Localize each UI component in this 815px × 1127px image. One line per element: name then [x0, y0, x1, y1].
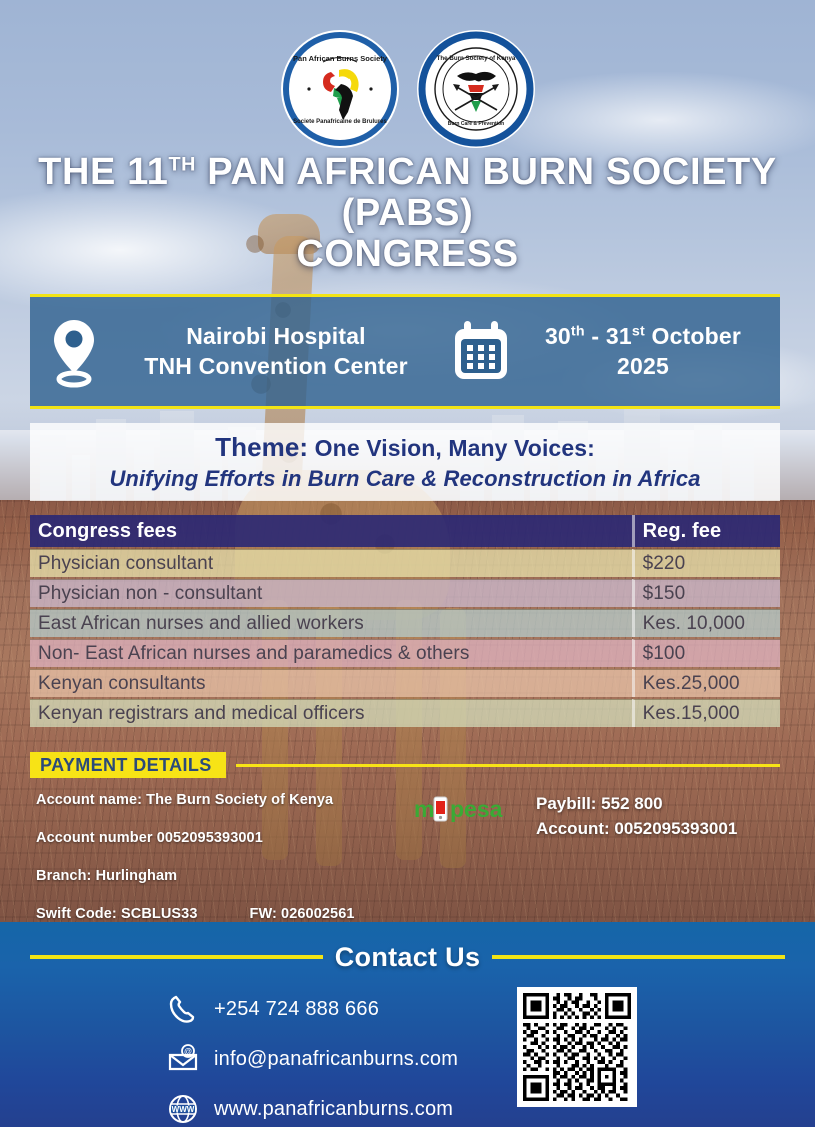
table-row: Kenyan registrars and medical officers K…	[30, 699, 780, 727]
theme-subline: Unifying Efforts in Burn Care & Reconstr…	[109, 466, 700, 492]
theme-keyword: Theme:	[215, 432, 308, 462]
venue-line-1: Nairobi Hospital	[102, 322, 450, 351]
title-line-1-pre: THE 11	[38, 151, 168, 193]
payment-divider	[236, 764, 780, 767]
payment-details-title: PAYMENT DETAILS	[30, 752, 226, 778]
date-separator: -	[585, 323, 606, 349]
page-title: THE 11TH PAN AFRICAN BURN SOCIETY (PABS)…	[0, 152, 815, 275]
svg-text:m: m	[414, 796, 434, 822]
fee-amount: Kes.25,000	[632, 669, 780, 697]
fee-amount: Kes. 10,000	[632, 609, 780, 637]
table-row: Non- East African nurses and paramedics …	[30, 639, 780, 667]
contact-list: +254 724 888 666 @ info@panafricanburns.…	[168, 984, 528, 1127]
title-line-1-post: PAN AFRICAN BURN SOCIETY	[196, 151, 777, 193]
map-pin-icon	[46, 316, 102, 388]
contact-footer: Contact Us +254 724 888 666 @	[0, 922, 815, 1127]
date-group: 30th - 31st October 2025	[450, 319, 780, 385]
payment-account-number: Account number 0052095393001	[36, 830, 416, 846]
payment-swift-code: Swift Code: SCBLUS33	[36, 906, 198, 922]
phone-icon	[168, 994, 198, 1024]
svg-text:Burn Care & Prevention: Burn Care & Prevention	[447, 121, 503, 127]
qr-code[interactable]	[517, 987, 637, 1107]
venue-date-band: Nairobi Hospital TNH Convention Center	[30, 294, 780, 409]
theme-box: Theme: One Vision, Many Voices: Unifying…	[30, 423, 780, 501]
table-row: Physician non - consultant $150	[30, 579, 780, 607]
logo-row: Pan African Burns Society Societe Panafr…	[0, 28, 815, 150]
payment-paybill-account: Account: 0052095393001	[536, 817, 786, 842]
fee-amount: Kes.15,000	[632, 699, 780, 727]
date-day-end: 31	[606, 323, 632, 349]
date-day-start: 30	[545, 323, 571, 349]
pan-african-burns-society-logo: Pan African Burns Society Societe Panafr…	[279, 28, 401, 150]
contact-item-phone[interactable]: +254 724 888 666	[168, 984, 528, 1034]
svg-text:Pan African Burns Society: Pan African Burns Society	[293, 54, 388, 63]
contact-phone-text: +254 724 888 666	[214, 998, 379, 1021]
congress-fees-table: Congress fees Reg. fee Physician consult…	[30, 513, 780, 729]
payment-swift-row: Swift Code: SCBLUS33 FW: 026002561	[36, 906, 416, 922]
payment-paybill: Paybill: 552 800	[536, 792, 786, 817]
date-year: 2025	[512, 352, 774, 382]
fee-label: East African nurses and allied workers	[30, 609, 632, 637]
contact-rule-right	[492, 955, 785, 959]
table-header-row: Congress fees Reg. fee	[30, 515, 780, 547]
svg-text:WWW: WWW	[172, 1105, 195, 1114]
column-header-reg-fee: Reg. fee	[632, 515, 780, 547]
venue-group: Nairobi Hospital TNH Convention Center	[30, 316, 450, 388]
svg-text:pesa: pesa	[450, 796, 503, 822]
contact-heading-row: Contact Us	[30, 940, 785, 974]
payment-account-name: Account name: The Burn Society of Kenya	[36, 792, 416, 808]
fee-amount: $220	[632, 549, 780, 577]
title-ordinal-suffix: TH	[169, 153, 197, 175]
calendar-icon	[450, 319, 512, 385]
fee-amount: $100	[632, 639, 780, 667]
contact-website-text: www.panafricanburns.com	[214, 1098, 453, 1121]
payment-mpesa-details: Paybill: 552 800 Account: 0052095393001	[536, 792, 786, 841]
payment-details-header: PAYMENT DETAILS	[30, 752, 780, 778]
theme-headline: Theme: One Vision, Many Voices:	[215, 432, 595, 463]
date-suffix-start: th	[571, 323, 585, 339]
date-text: 30th - 31st October 2025	[512, 322, 780, 382]
m-pesa-logo: m pesa	[414, 794, 524, 824]
table-row: Physician consultant $220	[30, 549, 780, 577]
table-row: East African nurses and allied workers K…	[30, 609, 780, 637]
fee-amount: $150	[632, 579, 780, 607]
poster-canvas: Pan African Burns Society Societe Panafr…	[0, 0, 815, 1127]
globe-www-icon: WWW	[168, 1094, 198, 1124]
date-suffix-end: st	[632, 323, 645, 339]
table-row: Kenyan consultants Kes.25,000	[30, 669, 780, 697]
title-line-2: (PABS)	[0, 193, 815, 234]
fee-label: Kenyan consultants	[30, 669, 632, 697]
email-icon: @	[168, 1044, 198, 1074]
burn-society-of-kenya-logo: The Burn Society of Kenya Burn Care & Pr…	[415, 28, 537, 150]
contact-email-text: info@panafricanburns.com	[214, 1048, 458, 1071]
fee-label: Non- East African nurses and paramedics …	[30, 639, 632, 667]
contact-rule-left	[30, 955, 323, 959]
payment-fw-code: FW: 026002561	[250, 906, 355, 922]
column-header-congress-fees: Congress fees	[30, 515, 632, 547]
theme-headline-text: One Vision, Many Voices:	[308, 435, 595, 461]
contact-item-website[interactable]: WWW www.panafricanburns.com	[168, 1084, 528, 1127]
contact-item-email[interactable]: @ info@panafricanburns.com	[168, 1034, 528, 1084]
fee-label: Kenyan registrars and medical officers	[30, 699, 632, 727]
fee-label: Physician consultant	[30, 549, 632, 577]
svg-text:Societe Panafricaine de Brulur: Societe Panafricaine de Brulures	[293, 119, 387, 125]
fee-label: Physician non - consultant	[30, 579, 632, 607]
venue-text: Nairobi Hospital TNH Convention Center	[102, 322, 450, 381]
svg-text:The Burn Society of Kenya: The Burn Society of Kenya	[436, 55, 515, 62]
date-month: October	[645, 323, 741, 349]
title-line-3: CONGRESS	[0, 234, 815, 275]
venue-line-2: TNH Convention Center	[102, 352, 450, 381]
svg-text:@: @	[184, 1047, 192, 1056]
payment-branch: Branch: Hurlingham	[36, 868, 416, 884]
contact-heading: Contact Us	[335, 942, 481, 973]
